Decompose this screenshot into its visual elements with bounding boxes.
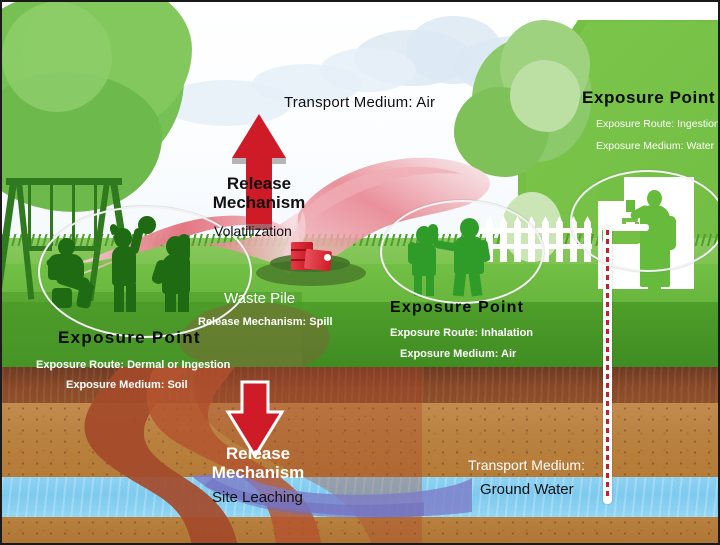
highlight-ellipse-icon	[380, 200, 544, 304]
label-ground-water: Ground Water	[480, 481, 574, 498]
drum-cap	[324, 254, 331, 261]
label-exposure-point-water: Exposure Point	[582, 88, 715, 108]
label-release-mechanism-leaching: Release Mechanism	[202, 444, 314, 482]
label-transport-medium: Transport Medium:	[468, 457, 585, 473]
label-waste-pile: Waste Pile	[224, 290, 295, 307]
label-exposure-medium-air: Exposure Medium: Air	[400, 348, 516, 360]
label-exposure-medium-soil: Exposure Medium: Soil	[66, 379, 188, 391]
label-exposure-route-air: Exposure Route: Inhalation	[390, 327, 533, 339]
label-exposure-route-soil: Exposure Route: Dermal or Ingestion	[36, 359, 230, 371]
arrow-up-icon	[230, 112, 288, 234]
well-pipe-dashes	[606, 230, 609, 500]
tree-canopy	[2, 2, 112, 112]
swing-chain	[28, 184, 31, 246]
swing-chain	[50, 184, 53, 246]
label-exposure-route-water: Exposure Route: Ingestion	[596, 118, 720, 130]
exposure-pathway-diagram: Transport Medium: Air Release Mechanism …	[0, 0, 720, 545]
label-exposure-point-air: Exposure Point	[390, 299, 524, 317]
label-exposure-medium-water: Exposure Medium: Water	[596, 140, 714, 152]
person-leg	[648, 278, 661, 294]
label-site-leaching: Site Leaching	[212, 489, 303, 506]
label-volatilization: Volatilization	[214, 223, 292, 239]
label-release-mechanism-volatilization: Release Mechanism	[205, 174, 313, 212]
label-release-mechanism-spill: Release Mechanism: Spill	[198, 316, 333, 328]
swing-leg	[16, 182, 34, 300]
label-exposure-point-soil: Exposure Point	[58, 328, 201, 348]
label-transport-medium-air: Transport Medium: Air	[284, 94, 435, 111]
highlight-ellipse-icon	[570, 170, 720, 272]
